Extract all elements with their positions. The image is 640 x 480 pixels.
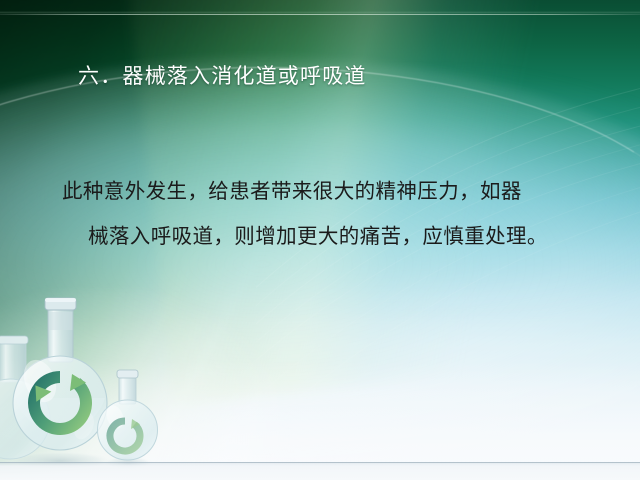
body-line-1: 此种意外发生，给患者带来很大的精神压力，如器 <box>62 182 640 203</box>
table-surface <box>0 462 640 480</box>
slide-canvas: 六．器械落入消化道或呼吸道 此种意外发生，给患者带来很大的精神压力，如器 械落入… <box>0 0 640 480</box>
slide-body-text: 此种意外发生，给患者带来很大的精神压力，如器 械落入呼吸道，则增加更大的痛苦，应… <box>0 182 640 247</box>
slide-title: 六．器械落入消化道或呼吸道 <box>78 63 367 89</box>
laboratory-flasks-illustration <box>0 286 190 480</box>
top-divider-line <box>0 14 640 15</box>
body-line-2: 械落入呼吸道，则增加更大的痛苦，应慎重处理。 <box>88 227 640 248</box>
table-surface-line <box>0 462 640 463</box>
